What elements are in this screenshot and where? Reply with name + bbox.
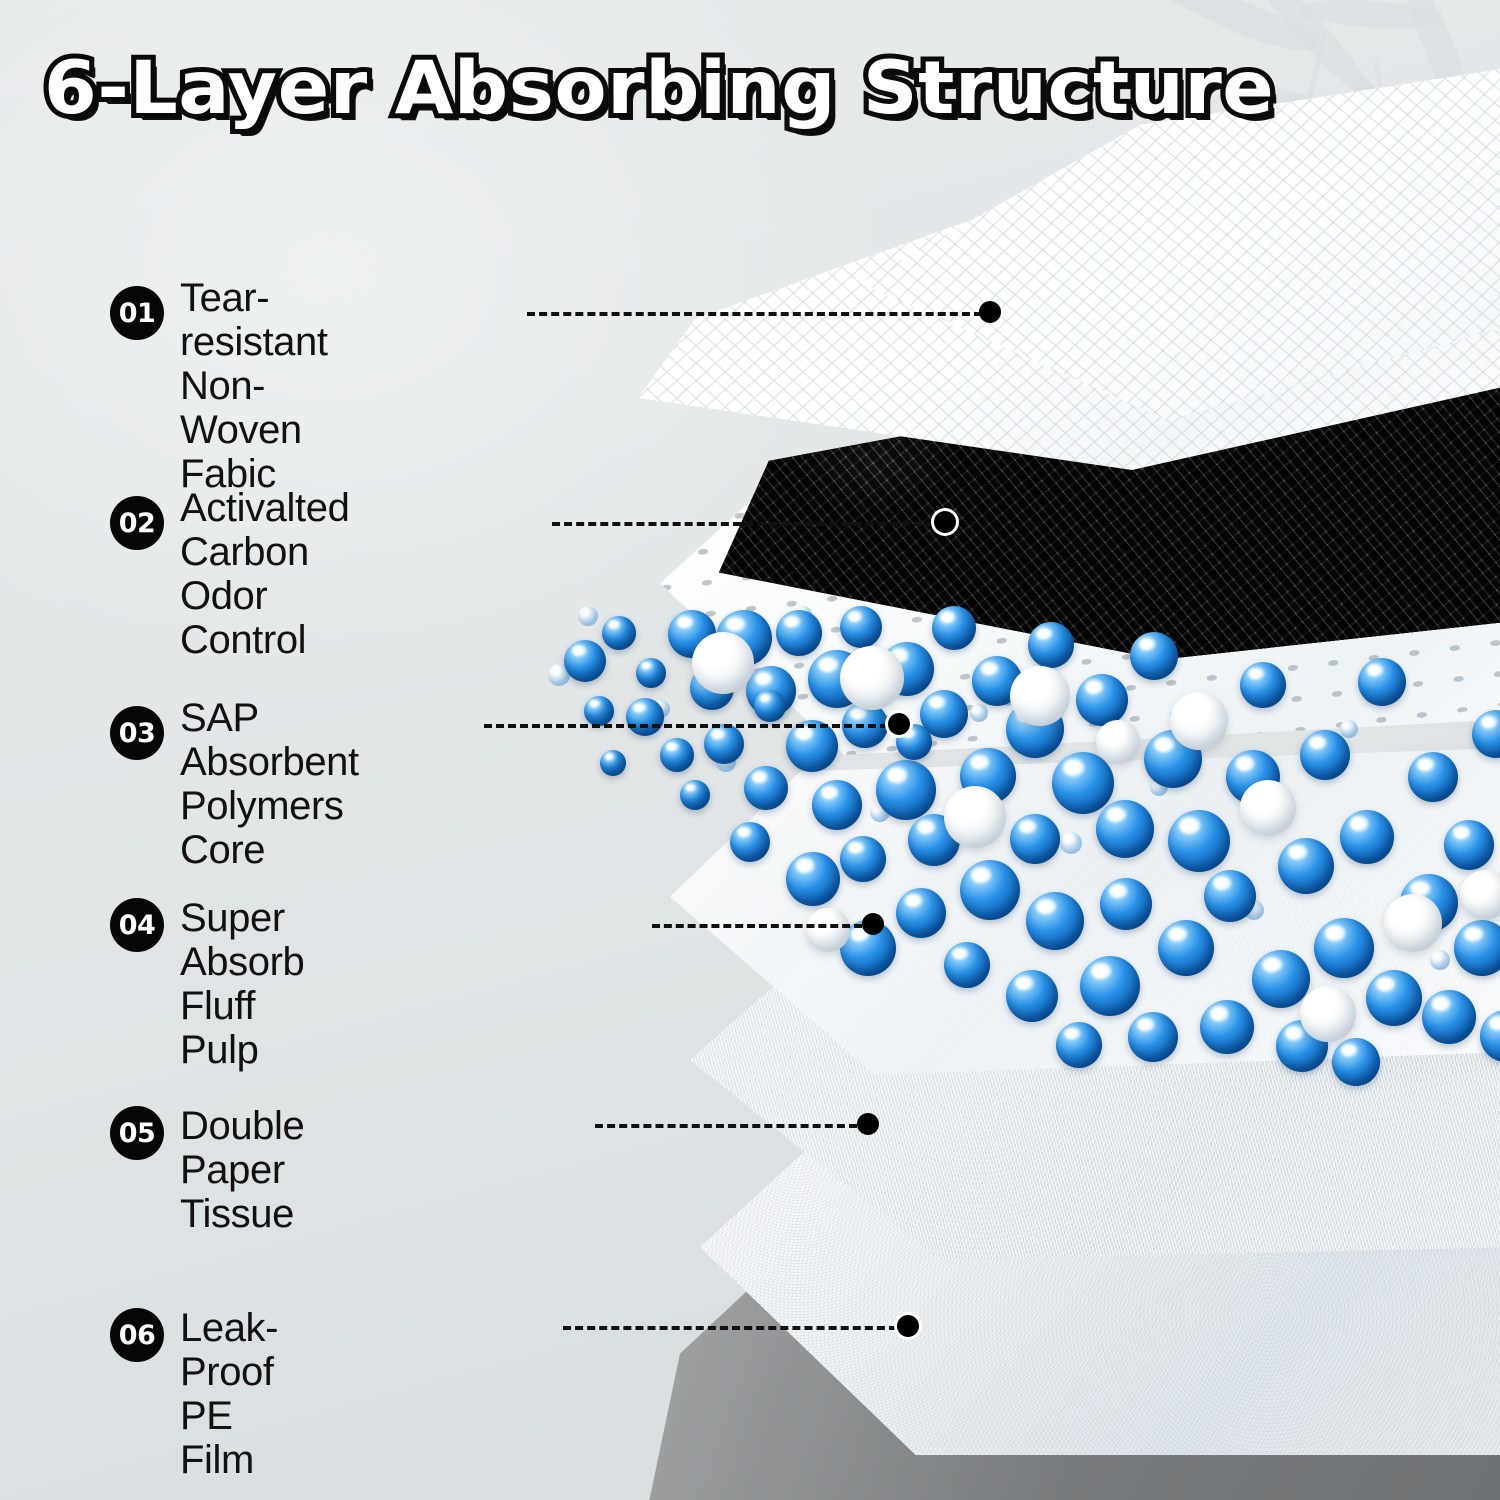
- sap-bead-blue: [1200, 1000, 1254, 1054]
- layer-label: SAP Absorbent Polymers Core: [180, 696, 359, 872]
- sap-bead-white: [1300, 986, 1356, 1042]
- sap-bead-blue: [1130, 632, 1178, 680]
- sap-bead-clear: [1060, 832, 1082, 854]
- layer-number-badge: 04: [110, 898, 164, 952]
- sap-bead-blue: [1472, 710, 1500, 758]
- sap-bead-blue: [626, 698, 664, 736]
- layer-number-badge: 03: [110, 706, 164, 760]
- leader-endpoint-dot: [857, 1113, 879, 1135]
- sap-bead-blue: [660, 738, 694, 772]
- sap-bead-blue: [786, 852, 840, 906]
- sap-bead-clear: [1430, 950, 1450, 970]
- sap-bead-blue: [1444, 820, 1494, 870]
- sap-bead-blue: [564, 640, 606, 682]
- layer-number-badge: 02: [110, 496, 164, 550]
- leader-line: [652, 924, 862, 928]
- sap-bead-blue: [1158, 920, 1214, 976]
- sap-bead-blue: [944, 942, 990, 988]
- sap-bead-blue: [680, 780, 710, 810]
- layer-label: Leak-Proof PE Film: [180, 1306, 278, 1482]
- sap-bead-white: [1460, 870, 1500, 920]
- sap-absorbent-beads: [540, 570, 1500, 1050]
- sap-bead-blue: [1332, 1038, 1380, 1086]
- sap-bead-blue: [1358, 658, 1406, 706]
- sap-bead-blue: [1366, 970, 1422, 1026]
- sap-bead-blue: [1076, 674, 1128, 726]
- sap-bead-blue: [1252, 950, 1310, 1008]
- sap-bead-blue: [1100, 878, 1152, 930]
- sap-bead-blue: [960, 860, 1020, 920]
- layer-number-badge: 06: [110, 1308, 164, 1362]
- sap-bead-blue: [876, 760, 936, 820]
- leader-line: [484, 724, 888, 728]
- sap-bead-white: [1170, 692, 1228, 750]
- sap-bead-blue: [932, 606, 976, 650]
- sap-bead-blue: [1314, 918, 1374, 978]
- sap-bead-blue: [600, 750, 626, 776]
- layer-label: Activalted Carbon Odor Control: [180, 486, 349, 662]
- sap-bead-blue: [1056, 1022, 1102, 1068]
- sap-bead-blue: [776, 610, 822, 656]
- sap-bead-white: [806, 908, 850, 952]
- infographic-canvas: 6-Layer Absorbing Structure 01Tear-resis…: [0, 0, 1500, 1500]
- sap-bead-blue: [636, 658, 666, 688]
- leader-line: [595, 1124, 857, 1128]
- sap-bead-blue: [840, 606, 882, 648]
- sap-bead-blue: [754, 690, 786, 722]
- sap-bead-blue: [704, 724, 744, 764]
- leader-endpoint-dot: [888, 713, 910, 735]
- layer-label: Tear-resistant Non-Woven Fabic: [180, 276, 328, 496]
- sap-bead-clear: [1340, 720, 1358, 738]
- leader-endpoint-dot: [979, 301, 1001, 323]
- sap-bead-clear: [970, 704, 988, 722]
- sap-bead-blue: [1026, 892, 1084, 950]
- sap-bead-blue: [1340, 810, 1394, 864]
- sap-bead-white: [1240, 780, 1296, 836]
- sap-bead-blue: [584, 696, 614, 726]
- sap-bead-blue: [1028, 622, 1074, 668]
- leader-endpoint-dot: [934, 511, 956, 533]
- sap-bead-blue: [744, 766, 788, 810]
- sap-bead-white: [840, 646, 904, 710]
- sap-bead-blue: [1422, 990, 1476, 1044]
- sap-bead-blue: [812, 780, 862, 830]
- sap-bead-blue: [896, 888, 946, 938]
- leader-line: [552, 522, 934, 526]
- sap-bead-white: [1096, 720, 1140, 764]
- sap-bead-white: [1010, 666, 1070, 726]
- sap-bead-blue: [1052, 752, 1114, 814]
- sap-bead-white: [1384, 894, 1442, 952]
- sap-bead-blue: [1204, 870, 1256, 922]
- sap-bead-white: [692, 632, 754, 694]
- sap-bead-blue: [1006, 970, 1058, 1022]
- leader-endpoint-dot: [862, 913, 884, 935]
- layer-number-badge: 01: [110, 286, 164, 340]
- sap-bead-blue: [602, 616, 636, 650]
- sap-bead-blue: [1454, 920, 1500, 976]
- sap-bead-blue: [1096, 800, 1154, 858]
- sap-bead-blue: [1278, 838, 1334, 894]
- sap-bead-blue: [1300, 730, 1350, 780]
- sap-bead-blue: [1168, 810, 1230, 872]
- sap-bead-blue: [1128, 1012, 1178, 1062]
- sap-bead-white: [944, 786, 1006, 848]
- sap-bead-blue: [1010, 814, 1060, 864]
- sap-bead-blue: [1408, 752, 1458, 802]
- layer-label: Super Absorb Fluff Pulp: [180, 896, 304, 1072]
- leader-line: [563, 1326, 897, 1330]
- page-title: 6-Layer Absorbing Structure: [44, 46, 1274, 131]
- leader-endpoint-dot: [897, 1315, 919, 1337]
- layer-label: Double Paper Tissue: [180, 1104, 304, 1236]
- sap-bead-blue: [840, 836, 886, 882]
- sap-bead-clear: [578, 606, 598, 626]
- sap-bead-blue: [730, 822, 770, 862]
- sap-bead-blue: [1240, 662, 1286, 708]
- sap-bead-blue: [1080, 956, 1140, 1016]
- layer-number-badge: 05: [110, 1106, 164, 1160]
- leader-line: [527, 312, 982, 316]
